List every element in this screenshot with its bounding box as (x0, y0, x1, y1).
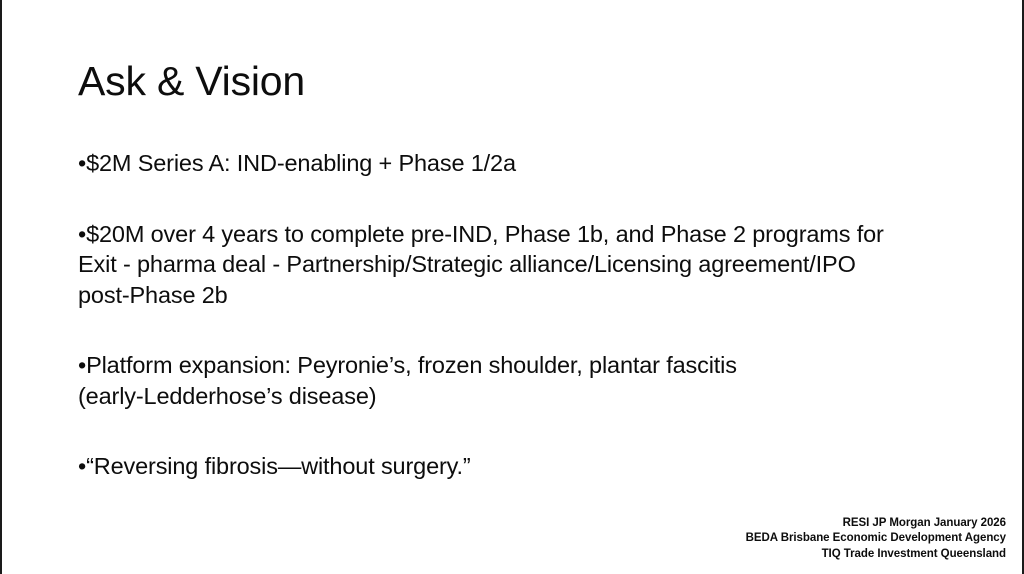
slide-body: •$2M Series A: IND-enabling + Phase 1/2a… (78, 148, 978, 482)
bullet-text: “Reversing fibrosis—without surgery.” (86, 453, 471, 479)
bullet-marker-icon: • (78, 352, 86, 378)
bullet-paragraph: •$2M Series A: IND-enabling + Phase 1/2a (78, 148, 978, 179)
bullet-marker-icon: • (78, 150, 86, 176)
slide-title: Ask & Vision (78, 57, 305, 105)
bullet-paragraph: •$20M over 4 years to complete pre-IND, … (78, 219, 978, 311)
bullet-text: $20M over 4 years to complete pre-IND, P… (86, 221, 884, 247)
slide-footer: RESI JP Morgan January 2026 BEDA Brisban… (746, 516, 1006, 563)
bullet-paragraph: •“Reversing fibrosis—without surgery.” (78, 451, 978, 482)
presentation-slide: Ask & Vision •$2M Series A: IND-enabling… (0, 0, 1024, 574)
bullet-line: post-Phase 2b (78, 280, 978, 311)
footer-line-beda: BEDA Brisbane Economic Development Agenc… (746, 531, 1006, 547)
bullet-paragraph: •Platform expansion: Peyronie’s, frozen … (78, 350, 978, 411)
bullet-text: Platform expansion: Peyronie’s, frozen s… (86, 352, 737, 378)
bullet-marker-icon: • (78, 453, 86, 479)
bullet-text: $2M Series A: IND-enabling + Phase 1/2a (86, 150, 516, 176)
bullet-line: •$2M Series A: IND-enabling + Phase 1/2a (78, 148, 978, 179)
bullet-line: •“Reversing fibrosis—without surgery.” (78, 451, 978, 482)
footer-line-event: RESI JP Morgan January 2026 (746, 516, 1006, 532)
bullet-line: (early-Ledderhose’s disease) (78, 381, 978, 412)
footer-line-tiq: TIQ Trade Investment Queensland (746, 547, 1006, 563)
bullet-line: Exit - pharma deal - Partnership/Strateg… (78, 249, 978, 280)
bullet-marker-icon: • (78, 221, 86, 247)
bullet-line: •$20M over 4 years to complete pre-IND, … (78, 219, 978, 250)
bullet-line: •Platform expansion: Peyronie’s, frozen … (78, 350, 978, 381)
